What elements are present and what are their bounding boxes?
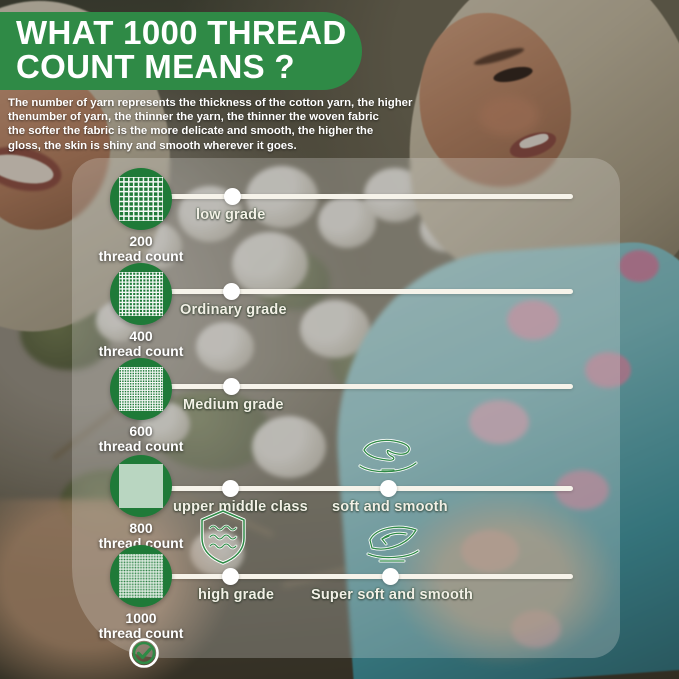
thread-count-label: 400 thread count [61,329,221,359]
scale-marker-dot[interactable] [380,480,397,497]
grade-label: high grade [198,587,274,603]
thread-mesh-circle[interactable] [110,263,172,325]
scale-marker-dot[interactable] [382,568,399,585]
thread-count-label: 200 thread count [61,234,221,264]
thread-mesh-circle[interactable] [110,168,172,230]
scale-marker-dot[interactable] [224,188,241,205]
grade-label: Medium grade [183,397,284,413]
thread-mesh-circle[interactable] [110,455,172,517]
grade-label: Ordinary grade [180,302,287,318]
scale-marker-dot[interactable] [223,283,240,300]
scale-marker-dot[interactable] [222,480,239,497]
page-title: WHAT 1000 THREAD COUNT MEANS ? [16,16,368,84]
grade-label: low grade [196,207,265,223]
thread-count-label: 600 thread count [61,424,221,454]
scale-track[interactable] [160,384,573,389]
leaf-arrow-icon [358,522,426,571]
scale-marker-dot[interactable] [223,378,240,395]
thread-mesh-circle[interactable] [110,545,172,607]
thread-mesh-circle[interactable] [110,358,172,420]
shield-waves-icon [198,508,248,571]
hand-smooth-icon [356,434,420,483]
scale-track[interactable] [160,194,573,199]
infographic-canvas: WHAT 1000 THREAD COUNT MEANS ? The numbe… [0,0,679,679]
check-circle-icon [128,637,160,669]
intro-paragraph: The number of yarn represents the thickn… [8,96,428,153]
scale-track[interactable] [160,289,573,294]
grade-label: Super soft and smooth [311,587,473,603]
scale-marker-dot[interactable] [222,568,239,585]
grade-label: soft and smooth [332,499,448,515]
